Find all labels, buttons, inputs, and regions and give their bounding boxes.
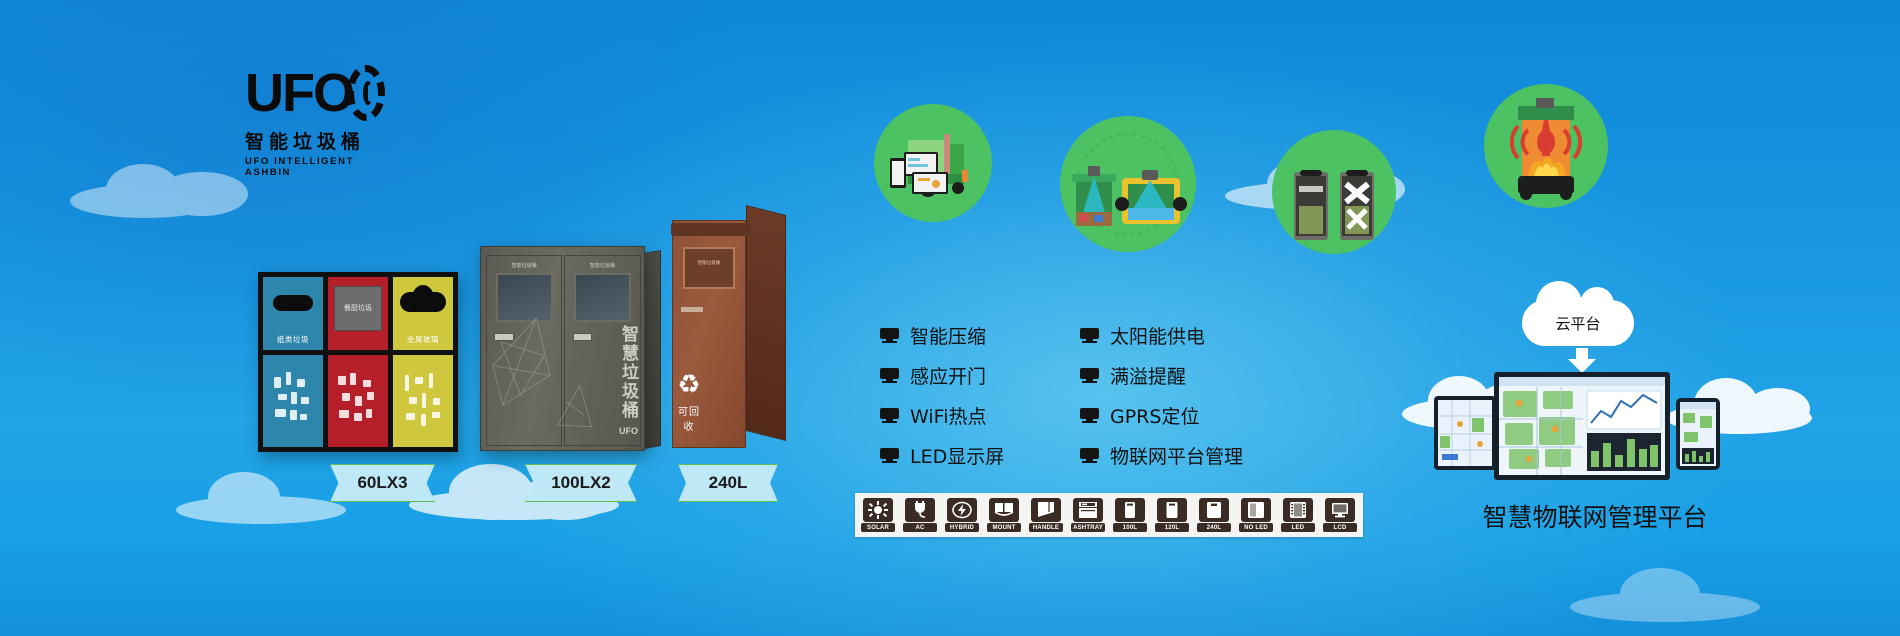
product-brown-recycling-bin: 智能垃圾桶 ♻ 可回收	[672, 210, 784, 448]
feature-label: LED显示屏	[910, 442, 1004, 469]
green-bin	[1072, 166, 1116, 226]
screen-panel-icon: 餐厨垃圾	[334, 286, 382, 331]
phone-right-screen	[1680, 402, 1716, 466]
option-led[interactable]: LED	[1281, 498, 1315, 532]
no-led-panel-icon	[1241, 498, 1271, 522]
wall-mount-icon	[989, 498, 1019, 522]
monitor-icon	[880, 328, 899, 343]
compartment-body-metal-glass	[393, 355, 453, 447]
compartment-top-kitchen: 餐厨垃圾	[328, 277, 388, 355]
option-label: MOUNT	[987, 523, 1021, 532]
garbage-truck-icon	[874, 104, 992, 222]
tablet-left-screen	[1438, 400, 1492, 466]
option-no-led[interactable]: NO LED	[1239, 498, 1273, 532]
compartment-label-kitchen: 餐厨垃圾	[335, 303, 381, 313]
option-hybrid[interactable]: HYBRID	[945, 498, 979, 532]
monitor-icon	[880, 368, 899, 383]
capacity-text-60lx3: 60LX3	[357, 473, 407, 493]
bin-vertical-text: 智慧垃圾桶	[618, 325, 638, 420]
option-100l[interactable]: 100L	[1113, 498, 1147, 532]
handle-icon	[1031, 498, 1061, 522]
feature-label: 物联网平台管理	[1110, 442, 1243, 469]
capacity-text-100lx2: 100LX2	[551, 473, 611, 493]
brown-bin-lid	[671, 223, 751, 236]
brown-bin-side	[746, 205, 786, 441]
monitor-screen	[1499, 377, 1665, 475]
option-label: HANDLE	[1029, 523, 1063, 532]
brown-bin-panel-text: 智能垃圾桶	[685, 259, 733, 266]
feature-label: 太阳能供电	[1110, 322, 1205, 349]
feature-item-led-display: LED显示屏	[880, 442, 1080, 469]
oval-slot-icon	[273, 295, 314, 311]
feature-list: 智能压缩 太阳能供电 感应开门 满溢提醒 WiFi热点 GPRS定位 LED显示…	[880, 322, 1300, 469]
option-label: 240L	[1197, 523, 1231, 532]
option-solar[interactable]: SOLAR	[861, 498, 895, 532]
product-smart-double-bin: 智能垃圾桶 智能垃圾桶 智慧垃圾桶 UFO	[480, 246, 645, 451]
monitor-icon	[1080, 408, 1099, 423]
brand-logo: UFO 智能垃圾桶 UFO INTELLIGENT ASHBIN	[245, 62, 385, 178]
option-120l[interactable]: 120L	[1155, 498, 1189, 532]
monitor-icon	[880, 408, 899, 423]
mobile-dashboard-graphic	[1680, 402, 1716, 466]
bin-brand-mark: UFO	[619, 426, 638, 436]
feature-label: 智能压缩	[910, 322, 986, 349]
litter-graphic-kitchen	[334, 368, 382, 434]
option-label: HYBRID	[945, 523, 979, 532]
option-label: 100L	[1113, 523, 1147, 532]
cloud-slot-icon	[400, 292, 446, 312]
dashboard-graphic	[1499, 377, 1665, 475]
feature-label: 感应开门	[910, 362, 986, 389]
lcd-screen-icon	[1325, 498, 1355, 522]
monitor-icon	[1080, 448, 1099, 463]
bin-compartment-kitchen: 餐厨垃圾	[328, 277, 393, 447]
compartment-label-paper: 纸类垃圾	[263, 334, 323, 345]
monitor-icon	[880, 448, 899, 463]
compartment-body-paper	[263, 355, 323, 447]
feature-item-smart-compression: 智能压缩	[880, 322, 1080, 349]
tablet-left	[1434, 396, 1496, 470]
monitor-icon	[1080, 368, 1099, 383]
feature-item-wifi-hotspot: WiFi热点	[880, 402, 1080, 429]
option-label: LCD	[1323, 523, 1357, 532]
brown-bin-face: 智能垃圾桶 ♻ 可回收	[672, 220, 746, 448]
recycle-icon: ♻	[673, 371, 705, 397]
feature-circle-compaction	[1272, 130, 1396, 254]
recycle-label: 可回收	[673, 403, 705, 433]
brown-bin-panel: 智能垃圾桶	[683, 247, 735, 289]
logo-en-name: UFO INTELLIGENT ASHBIN	[245, 156, 385, 178]
litter-graphic-metal-glass	[399, 368, 447, 434]
litter-graphic-paper	[269, 368, 317, 434]
option-ashtray[interactable]: ASHTRAY	[1071, 498, 1105, 532]
cloud-decor-bottom	[1560, 560, 1800, 630]
feature-circle-collection-truck	[874, 104, 992, 222]
compartment-top-paper: 纸类垃圾	[263, 277, 323, 355]
bin-body: 智能垃圾桶 智能垃圾桶 智慧垃圾桶 UFO	[480, 246, 645, 451]
feature-label: WiFi热点	[910, 402, 986, 429]
bin-fire-alarm-icon	[1484, 84, 1608, 208]
feature-item-solar-power: 太阳能供电	[1080, 322, 1300, 349]
option-240l[interactable]: 240L	[1197, 498, 1231, 532]
option-label: SOLAR	[861, 523, 895, 532]
feature-circle-fire-alarm	[1484, 84, 1608, 208]
compartment-body-kitchen	[328, 355, 388, 447]
logo-mark: UFO	[245, 62, 385, 124]
feature-label: GPRS定位	[1110, 402, 1199, 429]
led-panel-icon	[1283, 498, 1313, 522]
feature-item-overflow-alert: 满溢提醒	[1080, 362, 1300, 389]
monitor-icon	[1080, 328, 1099, 343]
option-label: AC	[903, 523, 937, 532]
cloud-platform-bubble: 云平台	[1522, 300, 1634, 346]
option-handle[interactable]: HANDLE	[1029, 498, 1063, 532]
feature-item-gprs-location: GPRS定位	[1080, 402, 1300, 429]
feature-label: 满溢提醒	[1110, 362, 1186, 389]
ufo-ring-icon	[347, 65, 385, 121]
product-banner: UFO 智能垃圾桶 UFO INTELLIGENT ASHBIN 纸类垃圾	[0, 0, 1900, 636]
option-label: NO LED	[1239, 523, 1273, 532]
capacity-label-100lx2: 100LX2	[525, 464, 637, 502]
capacity-text-240l: 240L	[709, 473, 748, 493]
yellow-bin	[1115, 170, 1187, 224]
feature-item-sensor-door: 感应开门	[880, 362, 1080, 389]
feature-circle-fill-level	[1060, 116, 1196, 252]
option-lcd[interactable]: LCD	[1323, 498, 1357, 532]
bin-120l-icon	[1157, 498, 1187, 522]
bin-fill-sensor-icon	[1060, 116, 1196, 252]
bin-compartment-metal-glass: 金属玻璃	[393, 277, 453, 447]
ashtray-icon	[1073, 498, 1103, 522]
bin-compartment-paper: 纸类垃圾	[263, 277, 328, 447]
option-mount[interactable]: MOUNT	[987, 498, 1021, 532]
option-ac[interactable]: AC	[903, 498, 937, 532]
feature-item-iot-platform: 物联网平台管理	[1080, 442, 1300, 469]
option-label: 120L	[1155, 523, 1189, 532]
dashboard-map-graphic	[1438, 400, 1492, 466]
power-plug-icon	[905, 498, 935, 522]
phone-right	[1676, 398, 1720, 470]
compartment-top-metal-glass: 金属玻璃	[393, 277, 453, 355]
sun-icon	[863, 498, 893, 522]
bin-240l-icon	[1199, 498, 1229, 522]
product-triple-sorting-bin: 纸类垃圾 餐厨垃圾	[258, 272, 458, 452]
capacity-label-60lx3: 60LX3	[330, 464, 435, 502]
platform-caption: 智慧物联网管理平台	[1380, 498, 1810, 534]
cloud-platform-label: 云平台	[1522, 300, 1634, 346]
option-label: LED	[1281, 523, 1315, 532]
compartment-label-metal-glass: 金属玻璃	[393, 334, 453, 345]
logo-wordmark: UFO	[245, 66, 353, 120]
bin-compaction-icon	[1272, 130, 1396, 254]
hybrid-power-icon	[947, 498, 977, 522]
option-icon-strip: SOLAR AC HYBRID MOUNT	[855, 493, 1363, 537]
brown-bin-slot	[681, 307, 703, 312]
option-label: ASHTRAY	[1071, 523, 1105, 532]
capacity-label-240l: 240L	[678, 464, 778, 502]
iot-platform-illustration: 云平台	[1430, 300, 1760, 530]
desktop-monitor	[1494, 372, 1670, 480]
logo-cn-name: 智能垃圾桶	[245, 127, 385, 154]
bin-100l-icon	[1115, 498, 1145, 522]
